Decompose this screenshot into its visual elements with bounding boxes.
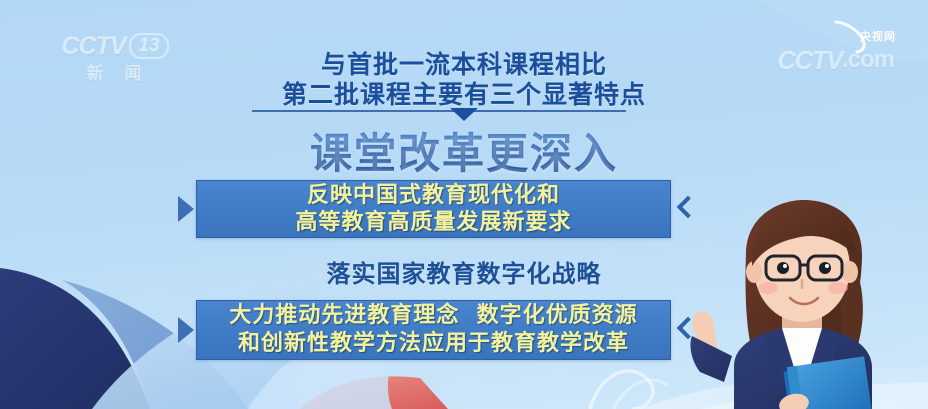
content-box-1-line-2: 高等教育高质量发展新要求 bbox=[295, 209, 571, 236]
content-box-2-line-2: 和创新性教学方法应用于教育教学改革 bbox=[238, 330, 629, 358]
arrow-right-icon-box2-left bbox=[178, 317, 194, 343]
arrow-right-icon-box1-left bbox=[178, 196, 194, 222]
cctvcom-brand-text: CCTV bbox=[777, 46, 842, 74]
content-box-1: 反映中国式教育现代化和 高等教育高质量发展新要求 bbox=[196, 180, 671, 238]
page-title: 课堂改革更深入 bbox=[0, 120, 928, 181]
content-box-2: 大力推动先进教育理念 数字化优质资源 和创新性教学方法应用于教育教学改革 bbox=[196, 300, 671, 360]
cctv13-subtitle-text: 新 闻 bbox=[52, 62, 178, 86]
cctv13-number-badge: 13 bbox=[129, 33, 168, 59]
content-box-2-line-1: 大力推动先进教育理念 数字化优质资源 bbox=[229, 302, 637, 330]
content-box-1-line-1: 反映中国式教育现代化和 bbox=[307, 182, 560, 209]
headline-divider bbox=[252, 110, 626, 112]
teacher-illustration bbox=[690, 196, 928, 409]
cctv13-logo-row: CCTV 13 bbox=[52, 30, 178, 62]
broadcast-graphic: CCTV 13 新 闻 CCTV .com 央视网 与首批一流本科课程相比 第二… bbox=[0, 0, 928, 409]
cctv13-brand-text: CCTV bbox=[61, 32, 125, 61]
page-title-text: 课堂改革更深入 bbox=[310, 129, 618, 178]
middle-statement-text: 落实国家教育数字化战略 bbox=[327, 260, 602, 288]
cctvcom-chinese-text: 央视网 bbox=[860, 28, 896, 44]
cctv13-channel-logo: CCTV 13 新 闻 bbox=[52, 30, 178, 88]
